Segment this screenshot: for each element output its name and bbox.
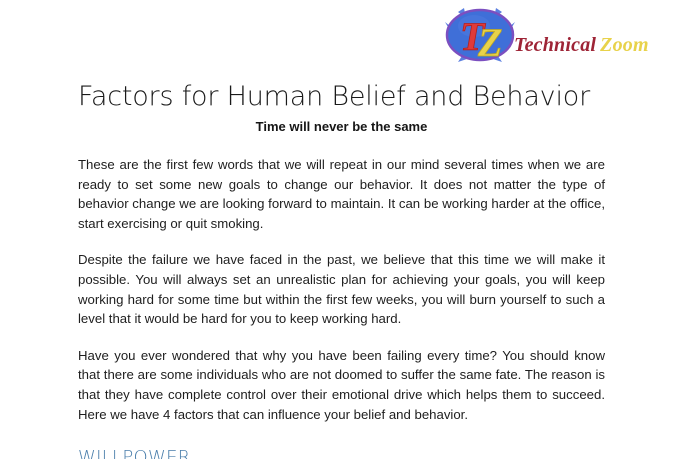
page-title: Factors for Human Belief and Behavior [78,80,605,114]
article-body: Factors for Human Belief and Behavior Ti… [78,80,605,459]
document-page: T Z TechnicalZoom Factors for Human Beli… [0,0,680,459]
paragraph: Despite the failure we have faced in the… [78,233,605,328]
site-logo[interactable]: T Z TechnicalZoom [436,2,676,74]
paragraph: Have you ever wondered that why you have… [78,329,605,424]
paragraph: These are the first few words that we wi… [78,136,605,233]
brand-name-part-2: Zoom [600,34,649,56]
brand-name: TechnicalZoom [514,34,649,57]
section-heading-willpower: WILLPOWER [78,424,605,459]
svg-text:Z: Z [477,20,502,64]
technical-zoom-logo-icon: T Z [444,6,516,64]
brand-name-part-1: Technical [514,34,596,56]
page-subtitle: Time will never be the same [78,118,605,136]
